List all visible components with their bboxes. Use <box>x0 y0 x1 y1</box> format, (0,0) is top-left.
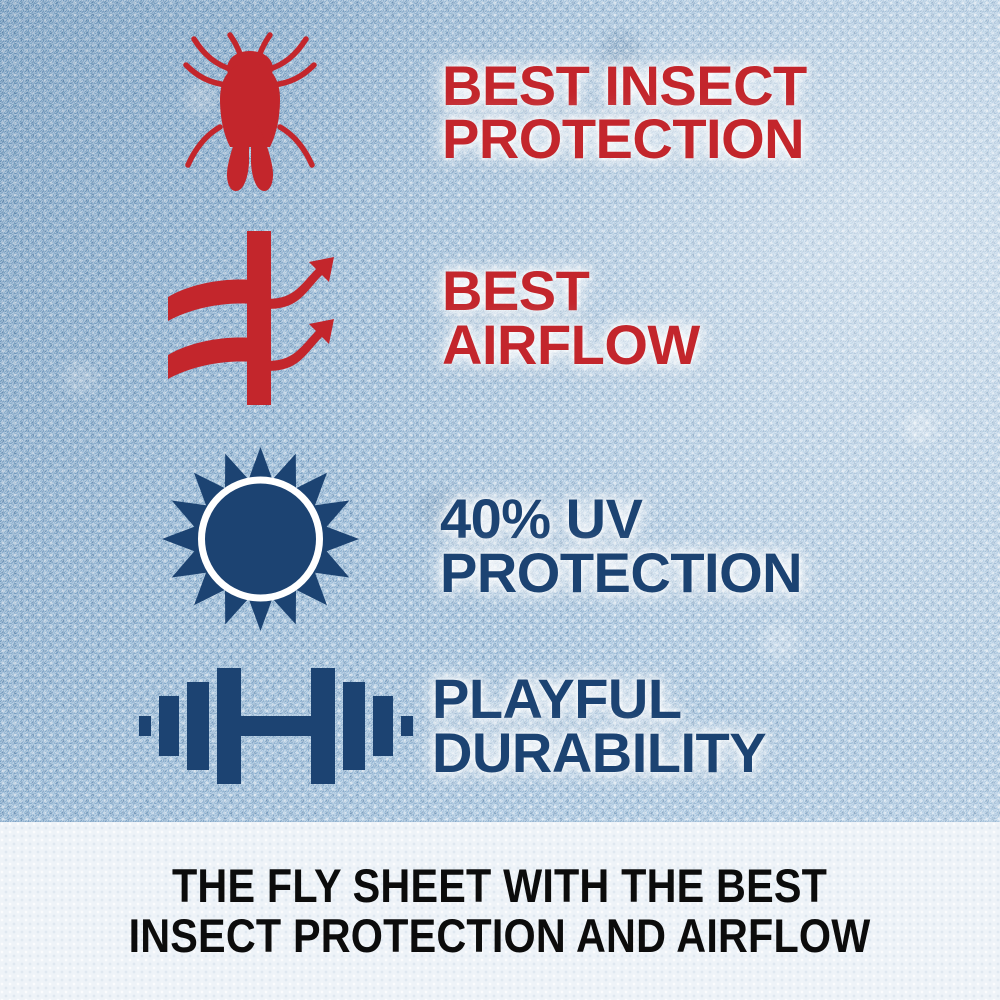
sun-icon <box>158 443 363 648</box>
fly-icon-cell <box>150 22 350 202</box>
feature-row-uv-protection: 40% UV PROTECTION <box>150 438 890 653</box>
caption-headline: THE FLY SHEET WITH THE BEST INSECT PROTE… <box>129 861 871 961</box>
feature-list: BEST INSECT PROTECTION BEST AIR <box>0 0 1000 822</box>
feature-label-uv-protection: 40% UV PROTECTION <box>440 492 802 598</box>
feature-row-durability: PLAYFUL DURABILITY <box>130 648 890 803</box>
feature-row-insect-protection: BEST INSECT PROTECTION <box>150 22 890 202</box>
product-feature-infographic: BEST INSECT PROTECTION BEST AIR <box>0 0 1000 1000</box>
dumbbell-icon-cell <box>130 651 420 801</box>
durability-text-cell: PLAYFUL DURABILITY <box>432 672 766 778</box>
uv-protection-text-cell: 40% UV PROTECTION <box>440 492 802 598</box>
feature-label-insect-protection: BEST INSECT PROTECTION <box>442 59 807 165</box>
dumbbell-icon <box>133 656 418 796</box>
airflow-arrows-icon <box>150 223 350 413</box>
airflow-text-cell: BEST AIRFLOW <box>442 264 700 370</box>
feature-label-airflow: BEST AIRFLOW <box>442 264 700 370</box>
feature-row-airflow: BEST AIRFLOW <box>150 220 890 415</box>
sun-icon-cell <box>150 438 370 653</box>
feature-label-durability: PLAYFUL DURABILITY <box>432 672 766 778</box>
fly-icon <box>170 23 330 201</box>
insect-protection-text-cell: BEST INSECT PROTECTION <box>442 59 807 165</box>
caption-band: THE FLY SHEET WITH THE BEST INSECT PROTE… <box>0 822 1000 1000</box>
airflow-icon-cell <box>150 220 350 415</box>
